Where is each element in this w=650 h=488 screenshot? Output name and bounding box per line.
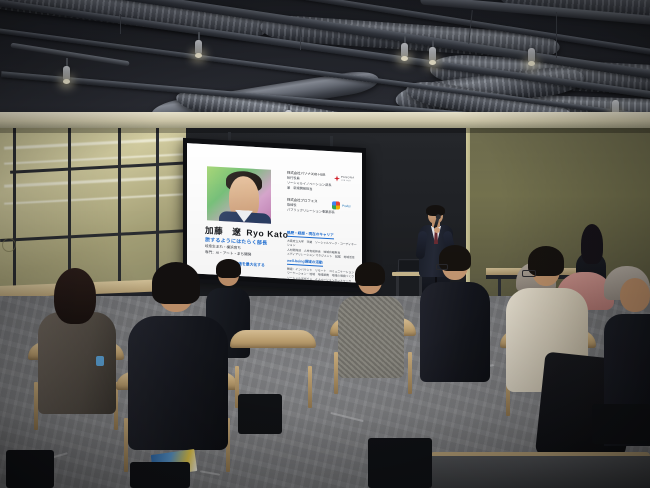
floor-bag bbox=[130, 462, 190, 488]
audience-person-tweed bbox=[338, 266, 404, 376]
pasona-logo-sub: JOB HUB bbox=[341, 180, 351, 183]
slide-section2-heading: well-being領域の活動 bbox=[287, 259, 323, 267]
track-spotlight bbox=[63, 66, 70, 81]
audience-chair bbox=[230, 330, 316, 404]
audience-torso bbox=[420, 282, 490, 382]
audience-long-hair bbox=[54, 268, 96, 324]
audience-torso bbox=[128, 316, 228, 450]
ceiling-wire bbox=[120, 14, 121, 34]
window-mullion bbox=[118, 118, 121, 300]
ceiling-soffit bbox=[0, 112, 650, 128]
floor-bag bbox=[238, 394, 282, 434]
window-mullion bbox=[13, 118, 16, 300]
chair-back bbox=[230, 330, 316, 348]
audience-head bbox=[620, 278, 650, 312]
carpet-pattern bbox=[330, 412, 363, 422]
floor-bag bbox=[6, 450, 54, 488]
profes-mark-icon bbox=[332, 201, 340, 209]
name-badge bbox=[96, 356, 104, 366]
audience-torso bbox=[338, 296, 404, 378]
slide-bio-line-2: 専門：AI・アート・まち開発 bbox=[205, 250, 251, 258]
ceiling-wire bbox=[556, 12, 557, 58]
track-spotlight bbox=[429, 47, 436, 62]
presentation-scene-photo: 加藤 遼Ryo Kato 旅するようにはたらく部長 岐阜生まれ・横浜育ち 専門：… bbox=[0, 0, 650, 488]
glass-decal bbox=[2, 238, 16, 252]
profes-logo: Profes bbox=[332, 201, 358, 211]
audience-hair bbox=[152, 262, 200, 304]
track-spotlight bbox=[528, 48, 535, 63]
audience-torso bbox=[38, 312, 116, 414]
presenter-hand bbox=[434, 227, 440, 233]
floor-bag bbox=[368, 438, 432, 488]
pasona-logo: PASONA JOB HUB bbox=[334, 174, 358, 184]
presenter-portrait-photo bbox=[207, 166, 271, 224]
profes-logo-text: Profes bbox=[342, 204, 351, 208]
pasona-mark-icon bbox=[334, 175, 340, 181]
audience-person-suit-glasses bbox=[420, 250, 490, 382]
audience-hair bbox=[355, 262, 385, 286]
track-spotlight bbox=[195, 40, 202, 55]
audience-person-front-left-woman bbox=[38, 272, 116, 412]
window-mullion bbox=[0, 229, 190, 241]
soffit-shadow bbox=[0, 128, 650, 133]
chair-leg bbox=[408, 352, 412, 394]
ceiling-wire bbox=[300, 28, 301, 50]
foreground-table bbox=[430, 452, 650, 488]
eyeglasses-icon bbox=[522, 270, 536, 277]
audience-person-front-center-suit bbox=[128, 268, 228, 448]
eyeglasses-icon bbox=[436, 264, 448, 270]
floor-bag bbox=[592, 404, 650, 444]
window-mullion bbox=[10, 161, 190, 173]
track-spotlight bbox=[401, 43, 408, 58]
chair-leg bbox=[308, 366, 312, 408]
